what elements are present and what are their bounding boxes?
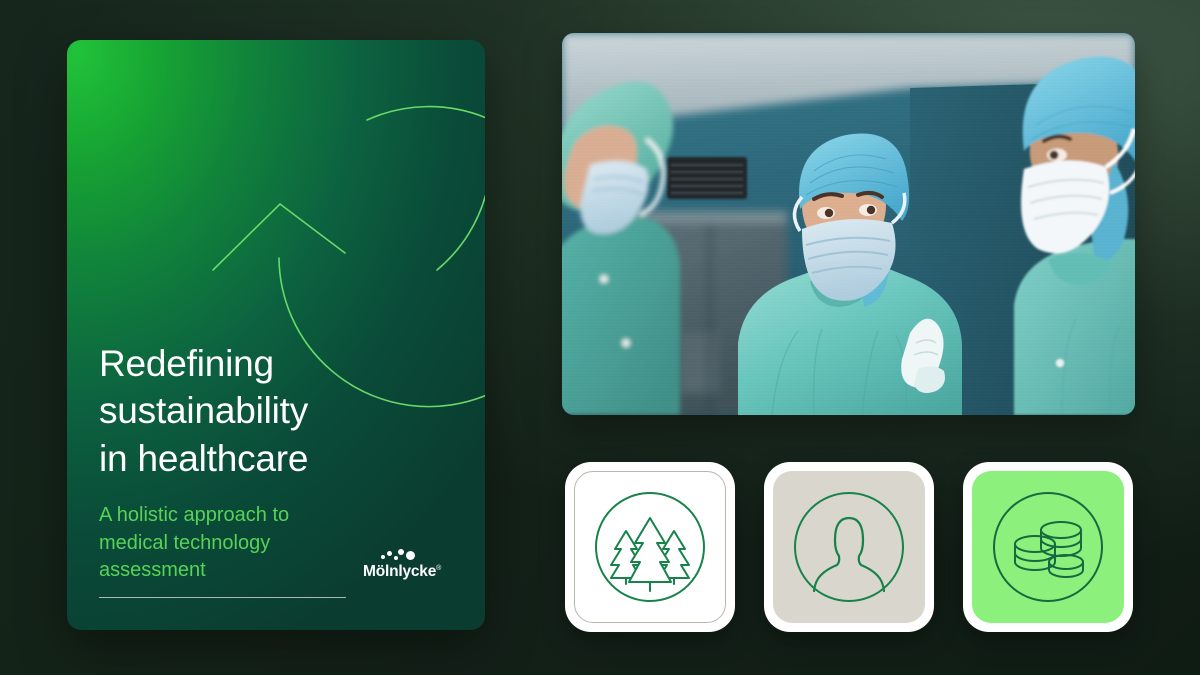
logo-dots-icon bbox=[379, 546, 435, 562]
pillar-card-economic[interactable] bbox=[963, 462, 1133, 632]
pillar-card-economic-panel bbox=[972, 471, 1124, 623]
pillar-card-social[interactable] bbox=[764, 462, 934, 632]
operating-room-illustration bbox=[562, 33, 1135, 415]
logo-wordmark: Mölnlycke® bbox=[363, 564, 459, 580]
pillar-card-environment[interactable] bbox=[565, 462, 735, 632]
trees-icon bbox=[591, 488, 709, 606]
cover-title: Redefining sustainability in healthcare bbox=[99, 340, 457, 482]
molnlycke-logo: Mölnlycke® bbox=[363, 546, 459, 592]
pillar-card-row bbox=[565, 462, 1135, 632]
report-cover-card[interactable]: Redefining sustainability in healthcare … bbox=[67, 40, 485, 630]
person-icon bbox=[790, 488, 908, 606]
pillar-card-social-panel bbox=[773, 471, 925, 623]
coins-icon bbox=[989, 488, 1107, 606]
cover-divider bbox=[99, 597, 346, 598]
slide-canvas: Redefining sustainability in healthcare … bbox=[0, 0, 1200, 675]
operating-room-photo[interactable] bbox=[562, 33, 1135, 415]
logo-trademark: ® bbox=[436, 565, 441, 572]
logo-brand-name: Mölnlycke bbox=[363, 563, 436, 580]
pillar-card-environment-panel bbox=[574, 471, 726, 623]
